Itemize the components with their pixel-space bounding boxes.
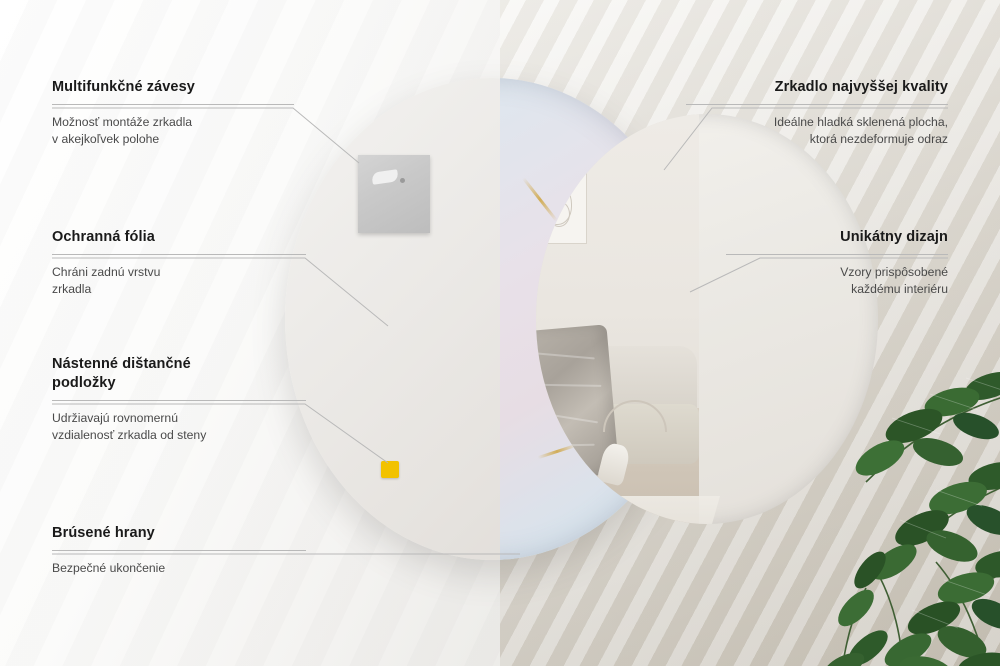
artwork-line-2: [548, 201, 570, 227]
callout-ochranna-folia: Ochranná fólia Chráni zadnú vrstvu zrkad…: [52, 228, 306, 298]
callout-multifunkcne-zavesy: Multifunkčné závesy Možnosť montáže zrka…: [52, 78, 294, 148]
round-mirror: [285, 78, 699, 560]
throw-fold-3: [536, 411, 598, 423]
callout-body: Chráni zadnú vrstvu zrkadla: [52, 264, 306, 298]
callout-title: Ochranná fólia: [52, 228, 306, 247]
callout-divider: [686, 104, 948, 105]
callout-title: Multifunkčné závesy: [52, 78, 294, 97]
hanging-bracket-screw: [400, 178, 405, 183]
callout-title: Zrkadlo najvyššej kvality: [686, 78, 948, 97]
eucalyptus-plant: [690, 330, 1000, 666]
callout-brusene-hrany: Brúsené hrany Bezpečné ukončenie: [52, 524, 306, 577]
reflected-artwork-frame: [536, 164, 587, 244]
product-infographic: Multifunkčné závesy Možnosť montáže zrka…: [0, 0, 1000, 666]
callout-body: Možnosť montáže zrkadla v akejkoľvek pol…: [52, 114, 294, 148]
hanging-bracket-icon: [358, 155, 430, 233]
callout-nastenne-distancne-podlozky: Nástenné dištančné podložky Udržiavajú r…: [52, 355, 306, 444]
callout-divider: [52, 254, 306, 255]
callout-body: Udržiavajú rovnomernú vzdialenosť zrkadl…: [52, 410, 306, 444]
callout-title: Brúsené hrany: [52, 524, 306, 543]
plant-leaves: [820, 367, 1000, 666]
callout-divider: [52, 104, 294, 105]
callout-unikatny-dizajn: Unikátny dizajn Vzory prispôsobené každé…: [726, 228, 948, 298]
callout-title: Unikátny dizajn: [726, 228, 948, 247]
callout-title: Nástenné dištančné podložky: [52, 355, 306, 393]
wall-spacer-pad: [381, 461, 399, 478]
throw-fold-1: [536, 351, 595, 359]
callout-body: Bezpečné ukončenie: [52, 560, 306, 577]
callout-zrkadlo-najvyssej-kvality: Zrkadlo najvyššej kvality Ideálne hladká…: [686, 78, 948, 148]
mirror-reflection: [536, 114, 699, 524]
callout-divider: [726, 254, 948, 255]
callout-divider: [52, 550, 306, 551]
throw-fold-2: [536, 384, 601, 387]
throw-fold-4: [539, 444, 595, 447]
callout-divider: [52, 400, 306, 401]
callout-body: Ideálne hladká sklenená plocha, ktorá ne…: [686, 114, 948, 148]
callout-body: Vzory prispôsobené každému interiéru: [726, 264, 948, 298]
